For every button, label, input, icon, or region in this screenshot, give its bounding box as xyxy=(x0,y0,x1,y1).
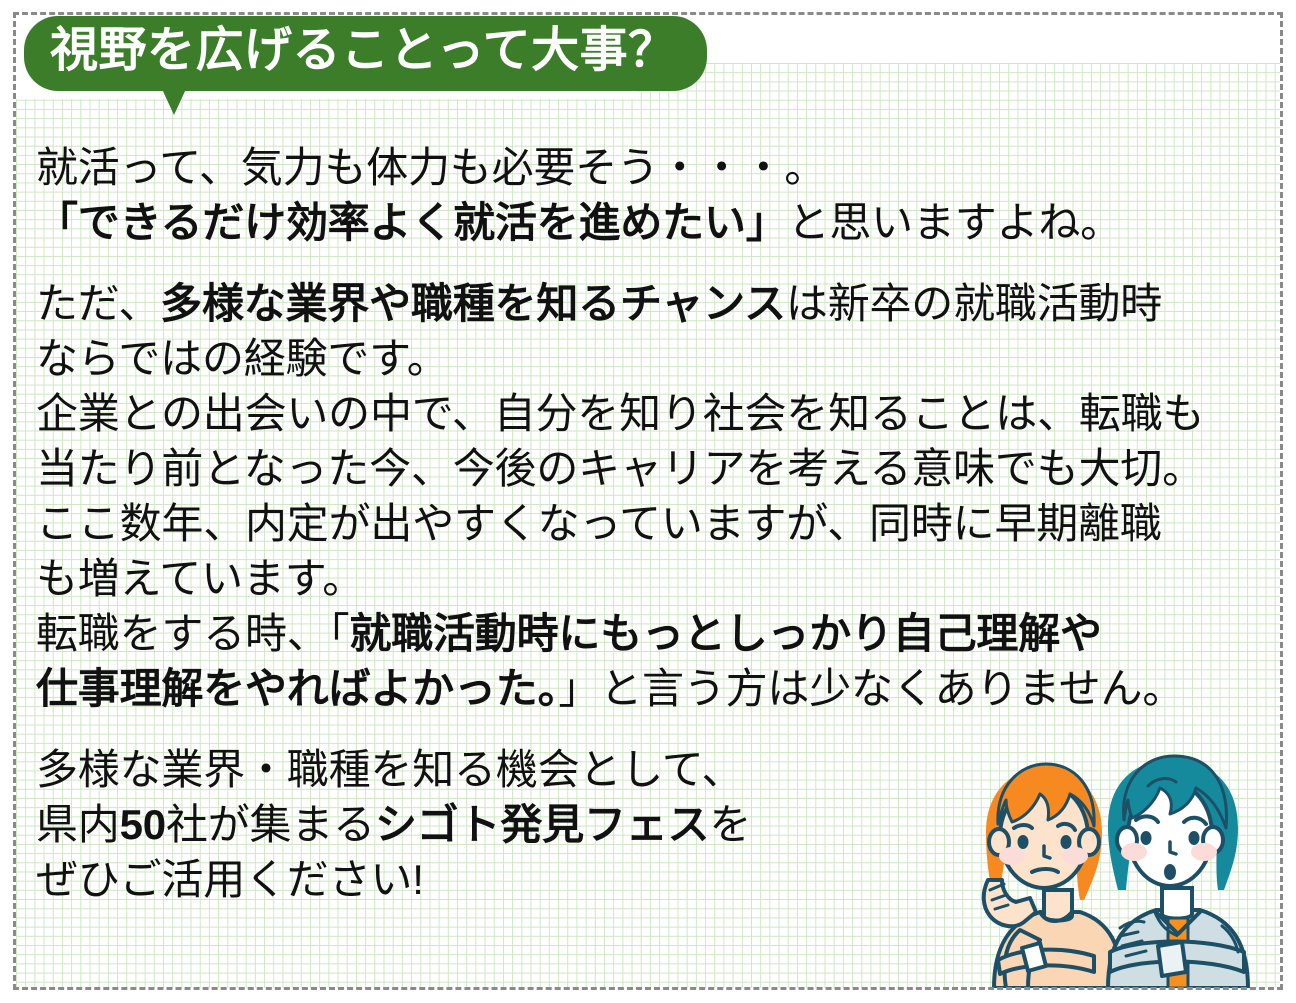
p2-line-7-a: 転職をする時、「 xyxy=(36,610,349,657)
p1-line-1: 就活って、気力も体力も必要そう・・・。 xyxy=(36,140,1266,195)
p2-line-1-a: ただ、 xyxy=(36,280,160,327)
bubble-body: 視野を広げることって大事？ xyxy=(24,16,707,91)
p1-line-2: 「できるだけ効率よく就活を進めたい」と思いますよね。 xyxy=(36,195,1266,250)
man-arms-crossed-figure xyxy=(1108,756,1248,988)
p2-line-1-b: は新卒の就職活動時 xyxy=(786,280,1162,327)
bubble-tail-icon xyxy=(162,89,186,115)
p1-line-2-rest: と思いますよね。 xyxy=(788,199,1122,246)
two-worried-people-illustration xyxy=(962,750,1280,988)
p2-line-8: 仕事理解をやればよかった。」と言う方は少なくありません。 xyxy=(36,661,1266,716)
p3-event-name: シゴト発見フェス xyxy=(375,801,709,848)
p2-line-7-bold: 就職活動時にもっとしっかり自己理解や xyxy=(349,610,1101,657)
paragraph-2: ただ、多様な業界や職種を知るチャンスは新卒の就職活動時 ならではの経験です。 企… xyxy=(36,276,1266,716)
poster-page: 視野を広げることって大事？ 就活って、気力も体力も必要そう・・・。 「できるだけ… xyxy=(0,0,1296,1003)
p3-line-2-b: 社が集まる xyxy=(166,801,375,848)
p2-line-8-rest: 」と言う方は少なくありません。 xyxy=(558,665,1184,712)
p2-line-1-bold: 多様な業界や職種を知るチャンス xyxy=(160,280,786,327)
p2-line-5: ここ数年、内定が出やすくなっていますが、同時に早期離職 xyxy=(36,496,1266,551)
p2-line-3: 企業との出会いの中で、自分を知り社会を知ることは、転職も xyxy=(36,386,1266,441)
p1-line-2-bold: 「できるだけ効率よく就活を進めたい」 xyxy=(36,199,788,246)
p2-line-8-bold: 仕事理解をやればよかった。 xyxy=(36,665,558,712)
p3-line-2-a: 県内 xyxy=(36,801,120,848)
p2-line-4: 当たり前となった今、今後のキャリアを考える意味でも大切。 xyxy=(36,441,1266,496)
p2-line-6: も増えています。 xyxy=(36,551,1266,606)
p2-line-1: ただ、多様な業界や職種を知るチャンスは新卒の就職活動時 xyxy=(36,276,1266,331)
p2-line-7: 転職をする時、「就職活動時にもっとしっかり自己理解や xyxy=(36,606,1266,661)
p3-line-2-c: を xyxy=(709,801,751,848)
page-title: 視野を広げることって大事？ xyxy=(50,23,677,80)
paragraph-1: 就活って、気力も体力も必要そう・・・。 「できるだけ効率よく就活を進めたい」と思… xyxy=(36,140,1266,250)
header-speech-bubble: 視野を広げることって大事？ xyxy=(24,16,707,91)
woman-thinking-figure xyxy=(984,764,1122,988)
p2-line-2: ならではの経験です。 xyxy=(36,331,1266,386)
p3-company-count: 50 xyxy=(120,801,166,848)
